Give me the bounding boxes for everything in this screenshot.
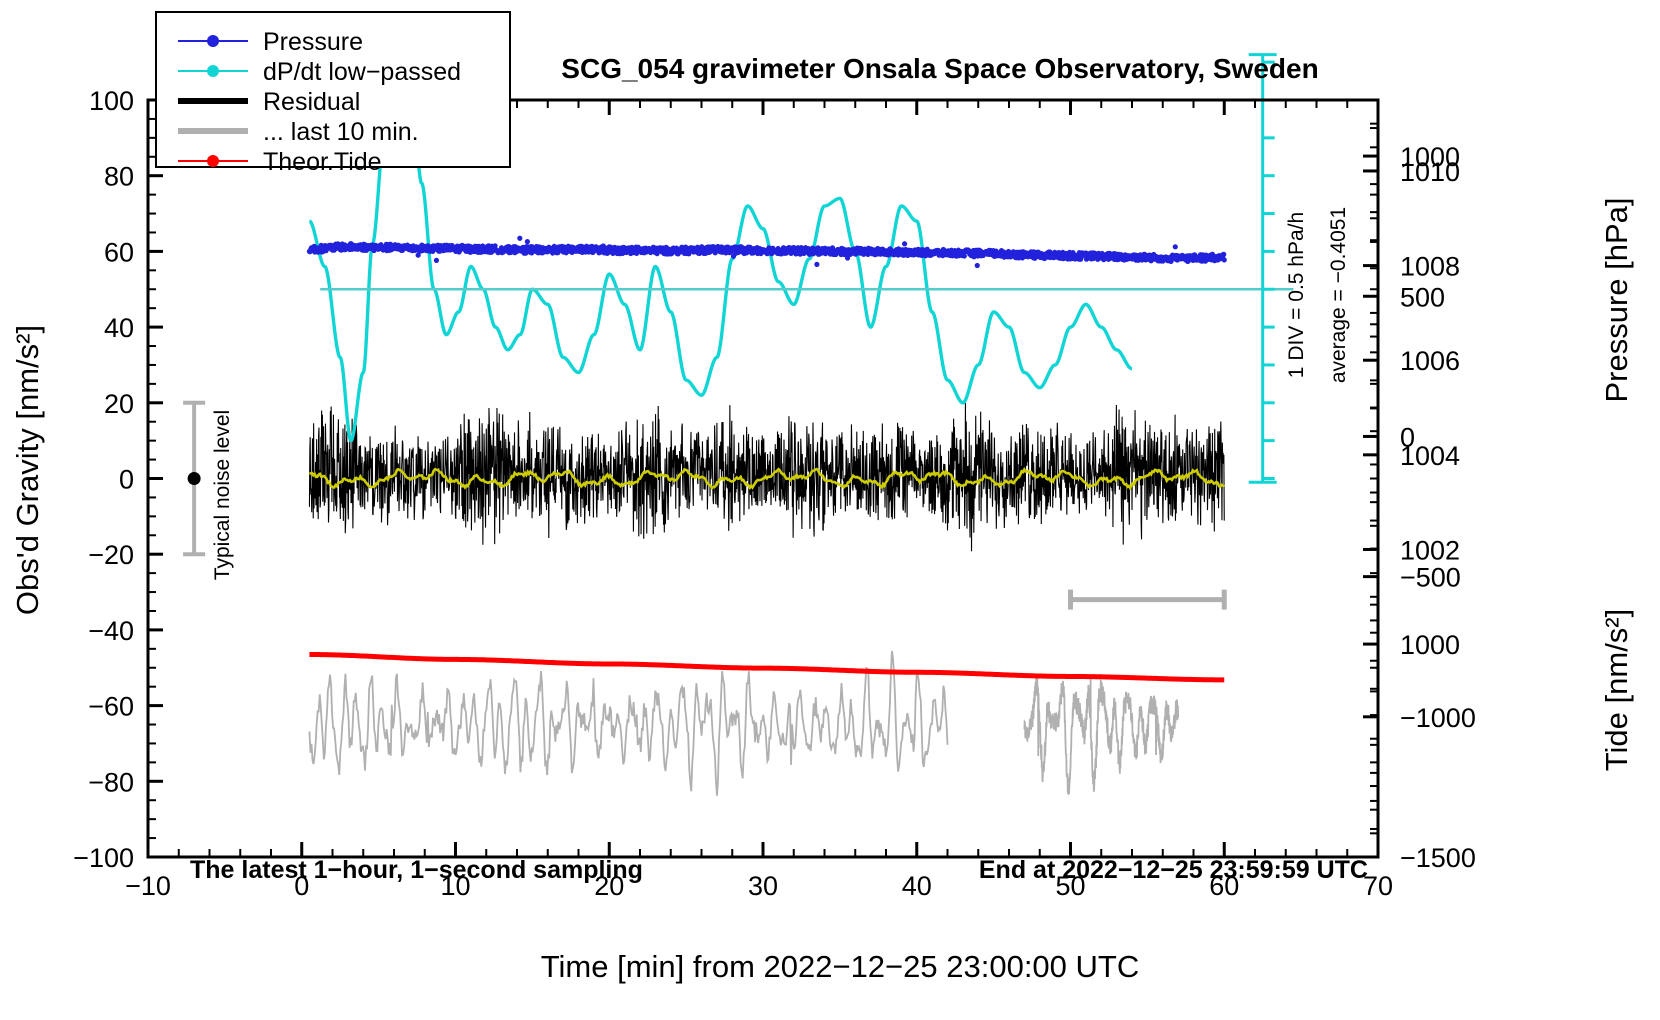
y-tick-label-left: −40 [88, 616, 134, 646]
y-tick-label-left: −60 [88, 692, 134, 722]
x-tick-label: 30 [748, 871, 778, 901]
y-tick-label-tide: 500 [1400, 282, 1445, 312]
gravimeter-plot: −10010203040506070−100−80−60−40−20020406… [0, 0, 1660, 1020]
page-title: SCG_054 gravimeter Onsala Space Observat… [561, 53, 1318, 84]
x-tick-label: 40 [902, 871, 932, 901]
legend-label: dP/dt low−passed [263, 58, 461, 86]
legend-label: ... last 10 min. [263, 118, 419, 146]
x-tick-label: −10 [125, 871, 171, 901]
x-axis-title: Time [min] from 2022−12−25 23:00:00 UTC [541, 949, 1140, 984]
y-tick-label-pressure: 1000 [1400, 630, 1460, 660]
legend-swatch-dot [207, 35, 219, 47]
y-axis-title-left: Obs'd Gravity [nm/s²] [10, 325, 45, 615]
y-tick-label-left: 100 [89, 86, 134, 116]
average-label: average = −0.4051 [1327, 207, 1350, 383]
noise-level-label: Typical noise level [211, 410, 234, 580]
y-tick-label-tide: 0 [1400, 422, 1415, 452]
y-tick-label-left: 40 [104, 313, 134, 343]
legend-label: Theor.Tide [263, 148, 382, 176]
y-tick-label-left: 20 [104, 389, 134, 419]
legend-swatch-dot [207, 155, 219, 167]
div-scale-label: 1 DIV = 0.5 hPa/h [1285, 212, 1308, 378]
y-axis-title-tide: Tide [nm/s²] [1599, 609, 1634, 772]
y-tick-label-tide: 1000 [1400, 142, 1460, 172]
y-tick-label-pressure: 1008 [1400, 252, 1460, 282]
y-tick-label-left: 0 [119, 465, 134, 495]
y-tick-label-left: −100 [73, 843, 134, 873]
legend-label: Pressure [263, 28, 363, 56]
y-tick-label-tide: −1000 [1400, 703, 1476, 733]
y-tick-label-tide: −500 [1400, 563, 1461, 593]
y-tick-label-pressure: 1006 [1400, 346, 1460, 376]
y-tick-label-pressure: 1002 [1400, 535, 1460, 565]
y-tick-label-left: −80 [88, 767, 134, 797]
y-tick-label-tide: −1500 [1400, 843, 1476, 873]
annotation-bottom-right: End at 2022−12−25 23:59:59 UTC [979, 856, 1368, 884]
legend-label: Residual [263, 88, 360, 116]
annotation-bottom-left: The latest 1−hour, 1−second sampling [190, 856, 643, 884]
y-tick-label-left: 80 [104, 162, 134, 192]
y-tick-label-left: 60 [104, 237, 134, 267]
legend: PressuredP/dt low−passedResidual... last… [156, 12, 510, 176]
y-tick-label-left: −20 [88, 540, 134, 570]
legend-swatch-dot [207, 65, 219, 77]
y-axis-title-pressure: Pressure [hPa] [1599, 197, 1634, 402]
chart-page: −10010203040506070−100−80−60−40−20020406… [0, 0, 1660, 1020]
